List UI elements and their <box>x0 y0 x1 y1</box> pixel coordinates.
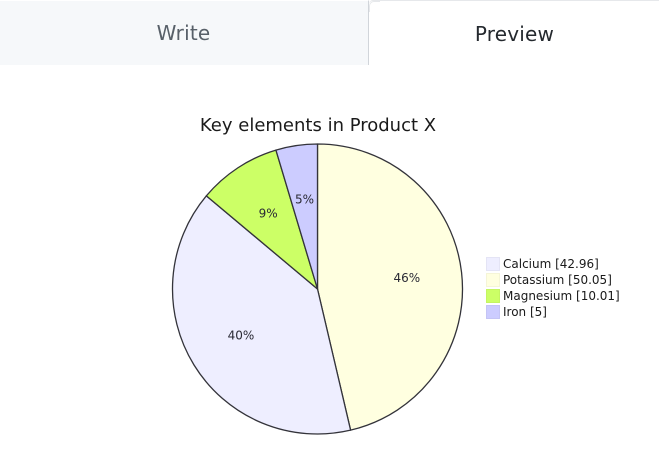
legend-swatch-icon <box>486 289 500 303</box>
legend-label: Calcium [42.96] <box>503 257 599 271</box>
pie-label-magnesium: 9% <box>259 206 278 220</box>
editor-tabbar: Write Preview <box>0 0 659 66</box>
legend-label: Iron [5] <box>503 305 547 319</box>
pie-label-iron: 5% <box>295 193 314 207</box>
tab-write-label: Write <box>157 21 211 45</box>
legend-label: Potassium [50.05] <box>503 273 612 287</box>
legend-label: Magnesium [10.01] <box>503 289 620 303</box>
tab-preview-label: Preview <box>475 22 554 46</box>
legend-item[interactable]: Magnesium [10.01] <box>486 288 620 304</box>
legend-item[interactable]: Iron [5] <box>486 304 620 320</box>
preview-pane: Key elements in Product X 46%40%9%5% Cal… <box>0 66 659 473</box>
pie-label-calcium: 40% <box>228 329 255 343</box>
pie-label-potassium: 46% <box>393 271 420 285</box>
legend-item[interactable]: Potassium [50.05] <box>486 272 620 288</box>
legend-item[interactable]: Calcium [42.96] <box>486 256 620 272</box>
tab-preview[interactable]: Preview <box>369 0 659 66</box>
legend-swatch-icon <box>486 257 500 271</box>
tab-write[interactable]: Write <box>0 0 369 66</box>
legend-swatch-icon <box>486 273 500 287</box>
pie-slice-group <box>173 144 463 434</box>
legend-swatch-icon <box>486 305 500 319</box>
chart-legend: Calcium [42.96]Potassium [50.05]Magnesiu… <box>486 256 620 320</box>
